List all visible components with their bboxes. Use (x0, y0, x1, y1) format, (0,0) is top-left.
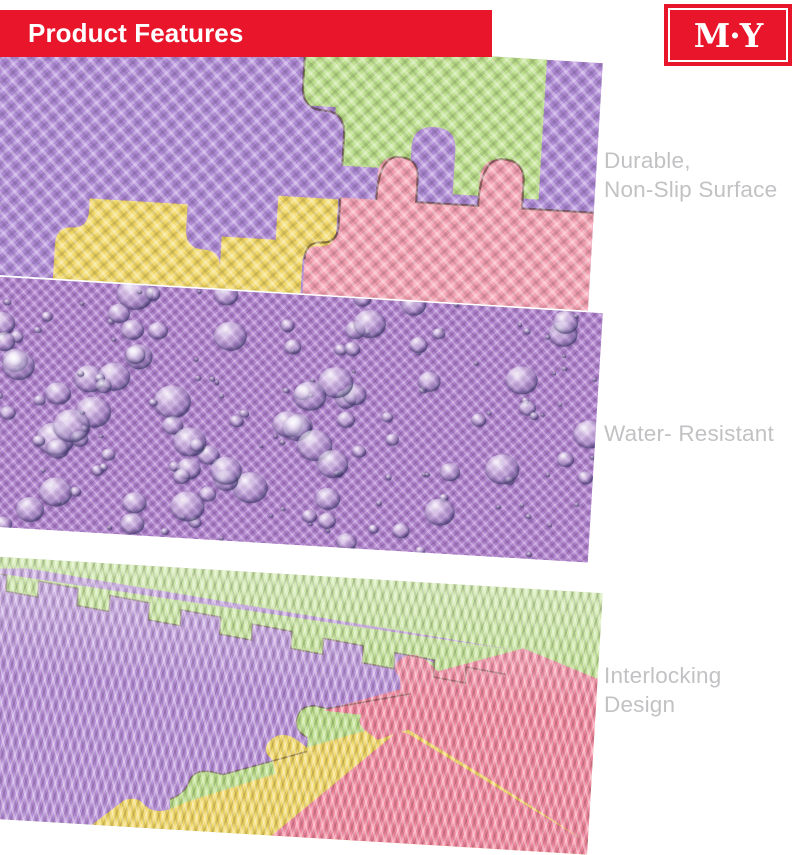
logo-inner-border: M·Y (668, 8, 788, 62)
feature-label-durable-non-slip: Durable, Non-Slip Surface (604, 147, 777, 205)
feature-label-interlocking-design: Interlocking Design (604, 662, 721, 720)
logo-text: M·Y (694, 19, 763, 52)
my-brand-logo: M·Y (664, 4, 792, 66)
page-header: Product Features M·Y (0, 0, 800, 70)
foam-weave-texture-2 (0, 276, 603, 563)
feature-label-water-resistant: Water- Resistant (604, 420, 774, 449)
panel-3-content (0, 556, 603, 855)
feature-image-water-resistant (0, 276, 603, 563)
product-features-title-bar: Product Features (0, 10, 492, 57)
feature-image-interlocking-design (0, 556, 603, 855)
page-title: Product Features (28, 18, 243, 49)
panel-2-content (0, 276, 603, 563)
foam-weave-texture-3 (0, 556, 603, 855)
